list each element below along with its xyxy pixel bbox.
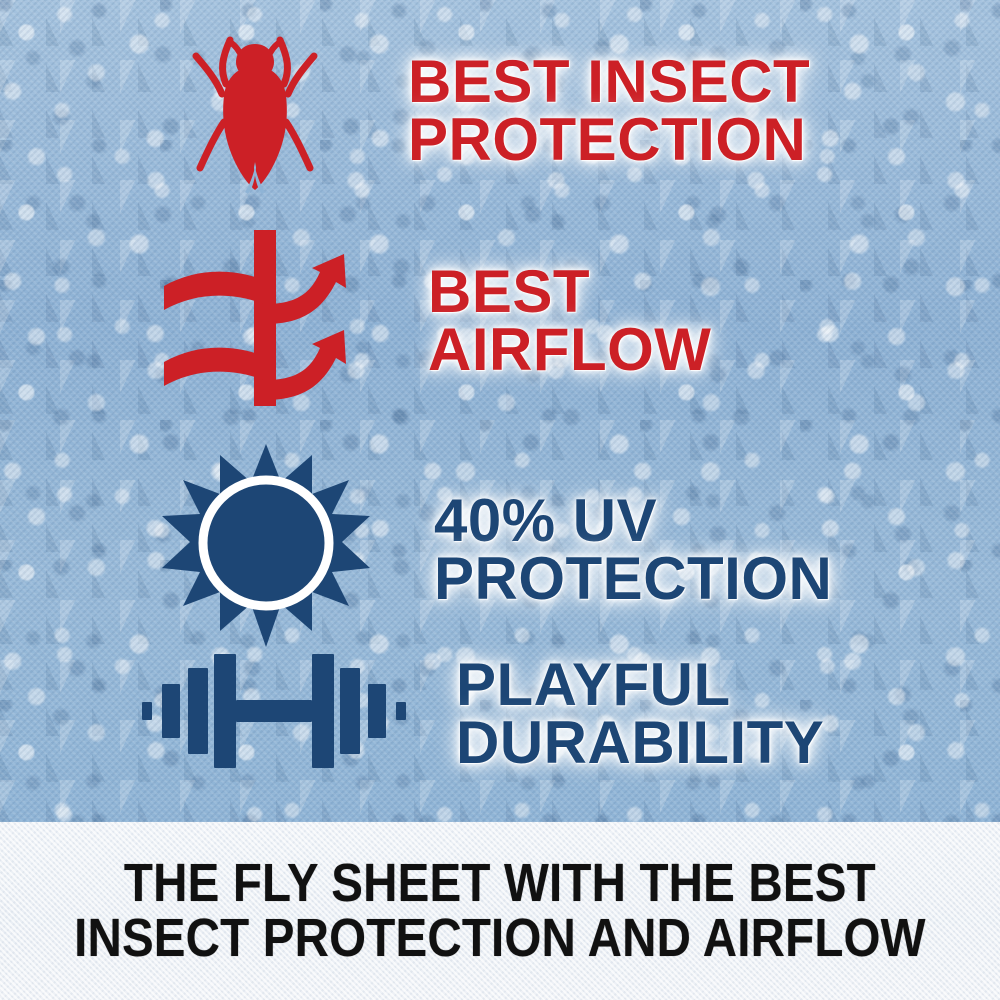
feature-list: BEST INSECT PROTECTION BEST AIRFLOW: [0, 0, 1000, 822]
feature-row-uv-protection: 40% UV PROTECTION: [160, 442, 832, 657]
sun-icon: [160, 442, 372, 657]
product-feature-poster: BEST INSECT PROTECTION BEST AIRFLOW: [0, 0, 1000, 1000]
feature-label-durability: PLAYFUL DURABILITY: [456, 656, 824, 771]
feature-label-insect-protection: BEST INSECT PROTECTION: [408, 53, 810, 168]
feature-row-insect-protection: BEST INSECT PROTECTION: [160, 18, 810, 203]
caption-band: THE FLY SHEET WITH THE BEST INSECT PROTE…: [0, 822, 1000, 1000]
feature-row-durability: PLAYFUL DURABILITY: [140, 648, 824, 779]
fly-icon: [160, 18, 350, 203]
airflow-arrows-icon: [160, 228, 360, 413]
feature-label-uv-protection: 40% UV PROTECTION: [434, 492, 832, 607]
dumbbell-icon: [140, 648, 408, 779]
caption-text: THE FLY SHEET WITH THE BEST INSECT PROTE…: [74, 856, 926, 966]
feature-label-airflow: BEST AIRFLOW: [428, 263, 711, 378]
feature-row-airflow: BEST AIRFLOW: [160, 228, 711, 413]
